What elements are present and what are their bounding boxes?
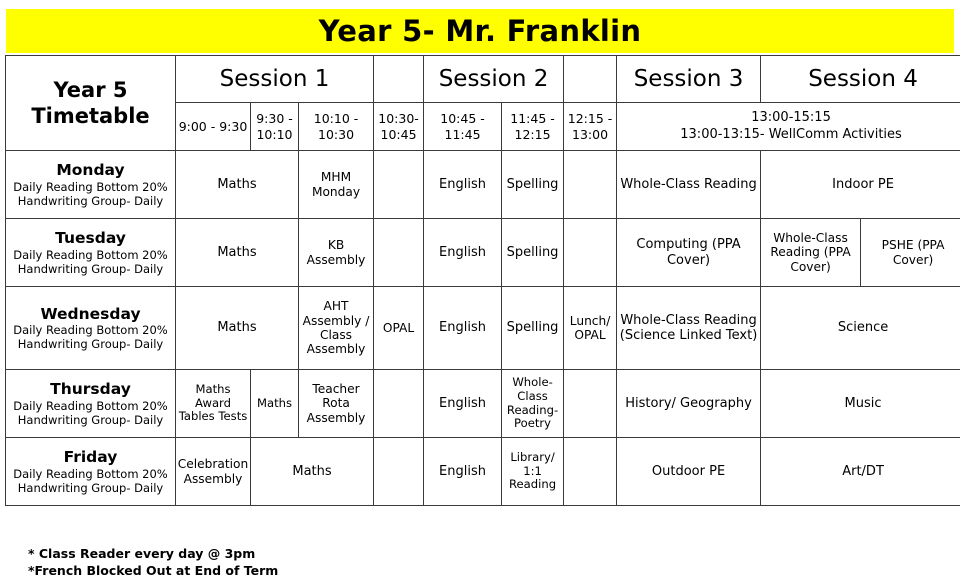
lesson-cell[interactable]: MHM Monday xyxy=(299,151,374,219)
day-label-monday: Monday Daily Reading Bottom 20% Handwrit… xyxy=(6,151,176,219)
lesson-cell[interactable]: Library/ 1:1 Reading xyxy=(502,438,564,506)
lesson-cell[interactable]: Music xyxy=(761,370,960,438)
lesson-cell[interactable]: Whole-Class Reading (PPA Cover) xyxy=(761,219,861,287)
afternoon-time-line-1: 13:00-15:15 xyxy=(751,110,831,125)
table-row-wednesday: Wednesday Daily Reading Bottom 20% Handw… xyxy=(6,287,960,370)
lesson-cell[interactable]: English xyxy=(424,151,502,219)
day-note-2: Handwriting Group- Daily xyxy=(6,194,175,208)
lesson-cell[interactable]: Computing (PPA Cover) xyxy=(617,219,761,287)
timetable-table: Year 5 Timetable Session 1 Session 2 Ses… xyxy=(5,55,960,506)
session-header-break-2 xyxy=(564,56,617,103)
session-header-1: Session 1 xyxy=(176,56,374,103)
session-header-3: Session 3 xyxy=(617,56,761,103)
day-label-friday: Friday Daily Reading Bottom 20% Handwrit… xyxy=(6,438,176,506)
lesson-cell[interactable]: Science xyxy=(761,287,960,370)
lesson-cell[interactable]: English xyxy=(424,370,502,438)
lesson-cell[interactable]: Outdoor PE xyxy=(617,438,761,506)
day-note-1: Daily Reading Bottom 20% xyxy=(6,399,175,413)
lesson-cell[interactable] xyxy=(374,438,424,506)
lesson-cell[interactable] xyxy=(564,438,617,506)
lesson-cell[interactable] xyxy=(374,151,424,219)
lesson-cell[interactable]: AHT Assembly / Class Assembly xyxy=(299,287,374,370)
footnotes: * Class Reader every day @ 3pm *French B… xyxy=(28,546,278,580)
time-slot-afternoon: 13:00-15:15 13:00-13:15- WellComm Activi… xyxy=(617,103,960,151)
session-header-break-1 xyxy=(374,56,424,103)
day-note-1: Daily Reading Bottom 20% xyxy=(6,180,175,194)
lesson-cell[interactable]: Maths xyxy=(176,287,299,370)
lesson-cell[interactable]: English xyxy=(424,219,502,287)
session-header-2: Session 2 xyxy=(424,56,564,103)
day-label-wednesday: Wednesday Daily Reading Bottom 20% Handw… xyxy=(6,287,176,370)
lesson-cell[interactable] xyxy=(564,219,617,287)
day-note-2: Handwriting Group- Daily xyxy=(6,337,175,351)
lesson-cell[interactable]: Spelling xyxy=(502,151,564,219)
lesson-cell[interactable] xyxy=(374,370,424,438)
lesson-cell[interactable]: KB Assembly xyxy=(299,219,374,287)
day-name: Tuesday xyxy=(6,229,175,248)
lesson-cell[interactable]: Spelling xyxy=(502,219,564,287)
day-label-tuesday: Tuesday Daily Reading Bottom 20% Handwri… xyxy=(6,219,176,287)
time-slot-2: 9:30 - 10:10 xyxy=(251,103,299,151)
lesson-cell[interactable]: PSHE (PPA Cover) xyxy=(861,219,960,287)
lesson-cell[interactable]: Teacher Rota Assembly xyxy=(299,370,374,438)
header-row-sessions: Year 5 Timetable Session 1 Session 2 Ses… xyxy=(6,56,960,103)
corner-line-1: Year 5 xyxy=(54,78,128,102)
table-row-monday: Monday Daily Reading Bottom 20% Handwrit… xyxy=(6,151,960,219)
page-title: Year 5- Mr. Franklin xyxy=(319,14,642,48)
lesson-cell[interactable]: Maths xyxy=(176,219,299,287)
afternoon-time-line-2: 13:00-13:15- WellComm Activities xyxy=(680,127,902,142)
day-note-2: Handwriting Group- Daily xyxy=(6,262,175,276)
lesson-cell[interactable] xyxy=(564,151,617,219)
time-slot-3: 10:10 - 10:30 xyxy=(299,103,374,151)
lesson-cell[interactable]: Maths xyxy=(251,438,374,506)
footnote-1: * Class Reader every day @ 3pm xyxy=(28,546,278,563)
table-row-tuesday: Tuesday Daily Reading Bottom 20% Handwri… xyxy=(6,219,960,287)
day-note-2: Handwriting Group- Daily xyxy=(6,413,175,427)
lesson-cell[interactable]: English xyxy=(424,438,502,506)
lesson-cell[interactable]: Maths Award Tables Tests xyxy=(176,370,251,438)
time-slot-4: 10:30-10:45 xyxy=(374,103,424,151)
lesson-cell[interactable]: Spelling xyxy=(502,287,564,370)
lesson-cell[interactable] xyxy=(564,370,617,438)
day-label-thursday: Thursday Daily Reading Bottom 20% Handwr… xyxy=(6,370,176,438)
time-slot-7: 12:15 - 13:00 xyxy=(564,103,617,151)
time-slot-1: 9:00 - 9:30 xyxy=(176,103,251,151)
lesson-cell[interactable]: OPAL xyxy=(374,287,424,370)
lesson-cell[interactable]: Indoor PE xyxy=(761,151,960,219)
day-note-1: Daily Reading Bottom 20% xyxy=(6,323,175,337)
session-header-4: Session 4 xyxy=(761,56,960,103)
day-name: Thursday xyxy=(6,380,175,399)
corner-title: Year 5 Timetable xyxy=(6,56,176,151)
table-row-thursday: Thursday Daily Reading Bottom 20% Handwr… xyxy=(6,370,960,438)
lesson-cell[interactable] xyxy=(374,219,424,287)
lesson-cell[interactable]: Whole-Class Reading xyxy=(617,151,761,219)
lesson-cell[interactable]: Celebration Assembly xyxy=(176,438,251,506)
lesson-cell[interactable]: Whole-Class Reading- Poetry xyxy=(502,370,564,438)
lesson-cell[interactable]: Whole-Class Reading (Science Linked Text… xyxy=(617,287,761,370)
time-slot-6: 11:45 - 12:15 xyxy=(502,103,564,151)
lesson-cell[interactable]: Maths xyxy=(176,151,299,219)
page-title-banner: Year 5- Mr. Franklin xyxy=(6,9,954,53)
timetable-page: Year 5- Mr. Franklin Year 5 Timetable Se… xyxy=(0,0,960,582)
day-note-2: Handwriting Group- Daily xyxy=(6,481,175,495)
day-note-1: Daily Reading Bottom 20% xyxy=(6,248,175,262)
footnote-2: *French Blocked Out at End of Term xyxy=(28,563,278,580)
lesson-cell[interactable]: Maths xyxy=(251,370,299,438)
day-name: Monday xyxy=(6,161,175,180)
lesson-cell[interactable]: History/ Geography xyxy=(617,370,761,438)
table-row-friday: Friday Daily Reading Bottom 20% Handwrit… xyxy=(6,438,960,506)
day-name: Friday xyxy=(6,448,175,467)
day-note-1: Daily Reading Bottom 20% xyxy=(6,467,175,481)
corner-line-2: Timetable xyxy=(31,104,149,128)
lesson-cell[interactable]: Lunch/ OPAL xyxy=(564,287,617,370)
lesson-cell[interactable]: Art/DT xyxy=(761,438,960,506)
lesson-cell[interactable]: English xyxy=(424,287,502,370)
day-name: Wednesday xyxy=(6,305,175,324)
time-slot-5: 10:45 - 11:45 xyxy=(424,103,502,151)
